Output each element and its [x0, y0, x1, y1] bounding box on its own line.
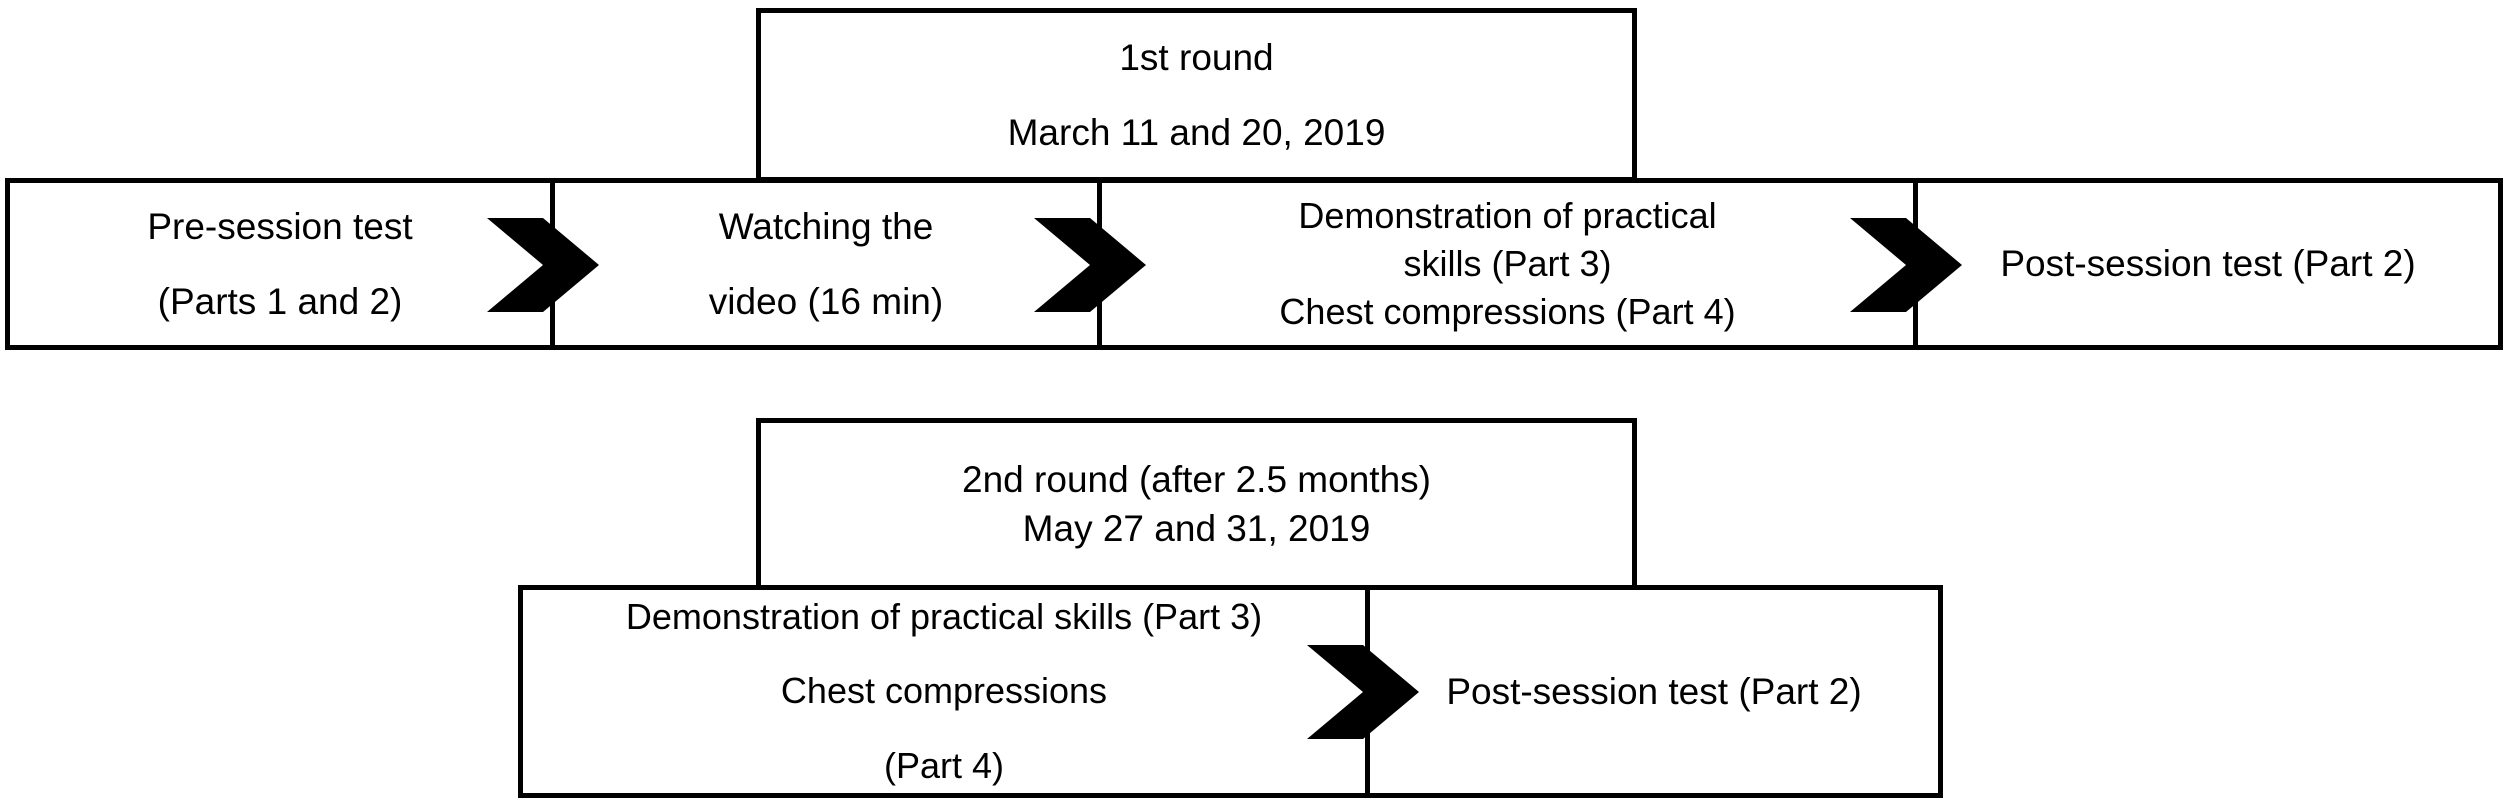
step-line: Post-session test (Part 2): [2000, 244, 2415, 283]
round-2-header-line-2: May 27 and 31, 2019: [1023, 509, 1371, 548]
round-1-process-row: Pre-session test (Parts 1 and 2) Watchin…: [5, 178, 2503, 350]
step-line: Chest compressions (Part 4): [1279, 293, 1735, 331]
step-line: Demonstration of practical: [1298, 197, 1716, 235]
step-line: (Part 4): [884, 747, 1004, 785]
step-demonstration-practical-skills-2[interactable]: Demonstration of practical skills (Part …: [523, 590, 1365, 793]
step-line: Watching the: [719, 207, 934, 246]
round-2-process-row: Demonstration of practical skills (Part …: [518, 585, 1943, 798]
step-pre-session-test[interactable]: Pre-session test (Parts 1 and 2): [10, 183, 550, 345]
divider-3: [1913, 183, 1918, 345]
round-1-header-box: 1st round March 11 and 20, 2019: [756, 8, 1637, 182]
step-watching-video[interactable]: Watching the video (16 min): [555, 183, 1097, 345]
round-1-header-line-1: 1st round: [1119, 38, 1273, 77]
flowchart-canvas: 1st round March 11 and 20, 2019 Pre-sess…: [0, 0, 2508, 810]
step-line: Chest compressions: [781, 672, 1107, 710]
step-line: Pre-session test: [147, 207, 412, 246]
step-line: video (16 min): [709, 282, 943, 321]
divider-2: [1097, 183, 1102, 345]
step-line: Post-session test (Part 2): [1446, 672, 1861, 711]
step-post-session-test-2[interactable]: Post-session test (Part 2): [1370, 590, 1938, 793]
round-2-header-line-1: 2nd round (after 2.5 months): [962, 460, 1431, 499]
divider-4: [1365, 590, 1370, 793]
step-demonstration-practical-skills[interactable]: Demonstration of practical skills (Part …: [1102, 183, 1913, 345]
step-line: Demonstration of practical skills (Part …: [626, 598, 1262, 636]
step-post-session-test[interactable]: Post-session test (Part 2): [1918, 183, 2498, 345]
divider-1: [550, 183, 555, 345]
round-1-header-line-2: March 11 and 20, 2019: [1008, 113, 1386, 152]
step-line: (Parts 1 and 2): [158, 282, 403, 321]
step-line: skills (Part 3): [1403, 245, 1611, 283]
round-2-header-box: 2nd round (after 2.5 months) May 27 and …: [756, 418, 1637, 590]
